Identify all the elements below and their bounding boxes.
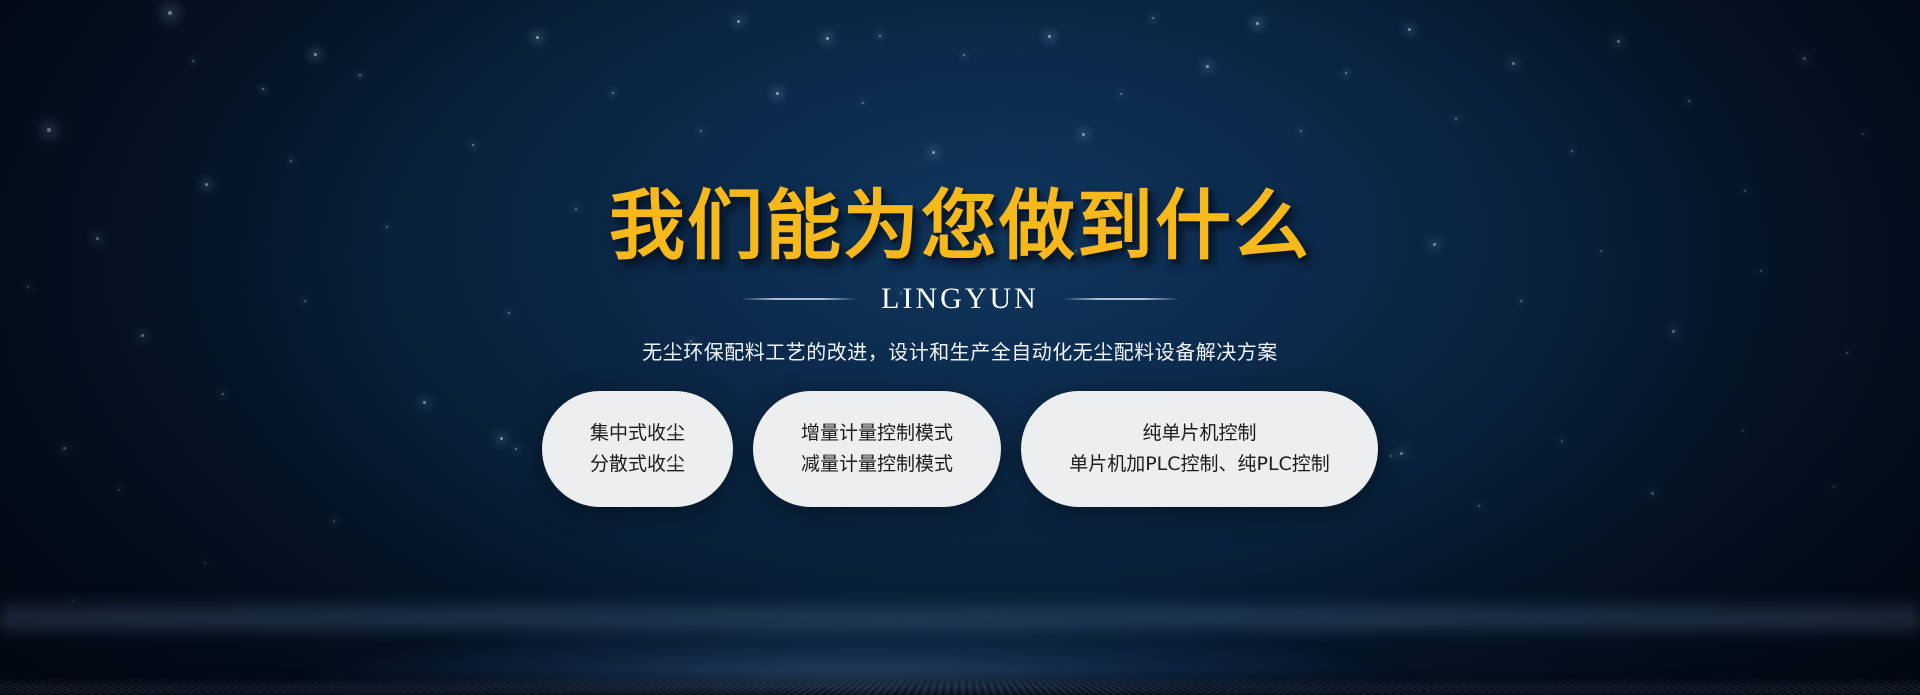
star-dot	[1833, 486, 1835, 488]
star-dot	[1120, 93, 1122, 95]
star-dot	[500, 437, 503, 440]
star-dot	[1048, 35, 1051, 38]
star-dot	[1478, 505, 1480, 507]
star-dot	[1571, 150, 1573, 152]
particle-mesh-floor	[0, 495, 1920, 695]
mesh-bottom-fade	[0, 669, 1920, 695]
star-dot	[1206, 65, 1209, 68]
star-dot	[304, 300, 306, 302]
star-dot	[575, 208, 577, 210]
star-dot	[141, 334, 144, 337]
star-dot	[515, 448, 517, 450]
star-dot	[1688, 100, 1690, 102]
star-dot	[1300, 130, 1302, 132]
brand-name-en: LINGYUN	[881, 284, 1039, 314]
star-dot	[963, 54, 965, 56]
star-dot	[1846, 352, 1848, 354]
star-dot	[204, 562, 206, 564]
star-dot	[47, 128, 51, 132]
star-dot	[333, 520, 335, 522]
star-dot	[63, 447, 66, 450]
star-dot	[27, 286, 29, 288]
star-dot	[1082, 133, 1085, 136]
star-dot	[423, 401, 426, 404]
feature-pill-metering-mode[interactable]: 增量计量控制模式 减量计量控制模式	[753, 391, 1001, 507]
star-dot	[205, 183, 208, 186]
pill-line-2: 分散式收尘	[590, 455, 685, 475]
star-dot	[1455, 118, 1457, 120]
star-dot	[536, 36, 539, 39]
star-dot	[290, 160, 292, 162]
star-dot	[1561, 440, 1563, 442]
star-dot	[1862, 133, 1864, 135]
star-dot	[359, 74, 361, 76]
star-dot	[1651, 492, 1654, 495]
star-dot	[776, 92, 779, 95]
star-dot	[472, 144, 474, 146]
star-dot	[72, 600, 74, 602]
feature-pill-dust-collection[interactable]: 集中式收尘 分散式收尘	[542, 391, 733, 507]
divider-line-left	[741, 298, 857, 300]
star-dot	[900, 292, 902, 294]
feature-pill-control-system[interactable]: 纯单片机控制 单片机加PLC控制、纯PLC控制	[1021, 391, 1378, 507]
star-dot	[1345, 72, 1347, 74]
mesh-glow	[0, 535, 1920, 695]
star-dot	[118, 489, 120, 491]
star-dot	[262, 88, 264, 90]
banner-content: 我们能为您做到什么 LINGYUN 无尘环保配料工艺的改进，设计和生产全自动化无…	[0, 0, 1920, 695]
star-dot	[1433, 243, 1436, 246]
star-dot	[1803, 57, 1806, 60]
star-dot	[386, 226, 388, 228]
mesh-layer-back	[0, 678, 1920, 695]
star-dot	[1744, 190, 1746, 192]
star-dot	[1256, 22, 1259, 25]
star-dot	[1617, 40, 1620, 43]
pill-line-1: 增量计量控制模式	[801, 424, 953, 444]
pill-line-2: 减量计量控制模式	[801, 455, 953, 475]
star-dot	[612, 92, 614, 94]
star-dot	[1672, 330, 1675, 333]
star-dot	[1390, 455, 1392, 457]
mesh-haze	[0, 597, 1920, 637]
divider-line-right	[1063, 298, 1179, 300]
star-dot	[1600, 250, 1602, 252]
feature-pill-group: 集中式收尘 分散式收尘 增量计量控制模式 减量计量控制模式 纯单片机控制 单片机…	[542, 391, 1378, 507]
star-dot	[1760, 270, 1762, 272]
pill-line-1: 纯单片机控制	[1142, 424, 1256, 444]
star-dot	[222, 393, 224, 395]
banner-description: 无尘环保配料工艺的改进，设计和生产全自动化无尘配料设备解决方案	[642, 336, 1278, 365]
star-dot	[1400, 452, 1403, 455]
background-vignette	[0, 0, 1920, 695]
star-dot	[168, 11, 172, 15]
pill-line-2: 单片机加PLC控制、纯PLC控制	[1069, 455, 1330, 475]
star-dot	[314, 53, 317, 56]
starfield	[0, 0, 1920, 695]
hero-banner: 我们能为您做到什么 LINGYUN 无尘环保配料工艺的改进，设计和生产全自动化无…	[0, 0, 1920, 695]
star-dot	[700, 130, 702, 132]
star-dot	[737, 20, 740, 23]
pill-line-1: 集中式收尘	[590, 424, 685, 444]
star-dot	[96, 237, 99, 240]
star-dot	[508, 312, 510, 314]
brand-subtitle-row: LINGYUN	[741, 284, 1179, 314]
star-dot	[1408, 28, 1411, 31]
star-dot	[826, 37, 829, 40]
star-dot	[1520, 300, 1522, 302]
star-dot	[879, 35, 881, 37]
star-dot	[1075, 250, 1077, 252]
star-dot	[1152, 17, 1154, 19]
star-dot	[690, 340, 692, 342]
star-dot	[862, 102, 864, 104]
star-dot	[192, 60, 194, 62]
background-noise-texture	[0, 0, 1920, 695]
star-dot	[1742, 430, 1744, 432]
banner-headline: 我们能为您做到什么	[609, 188, 1311, 264]
star-dot	[932, 151, 935, 154]
star-dot	[1512, 62, 1515, 65]
